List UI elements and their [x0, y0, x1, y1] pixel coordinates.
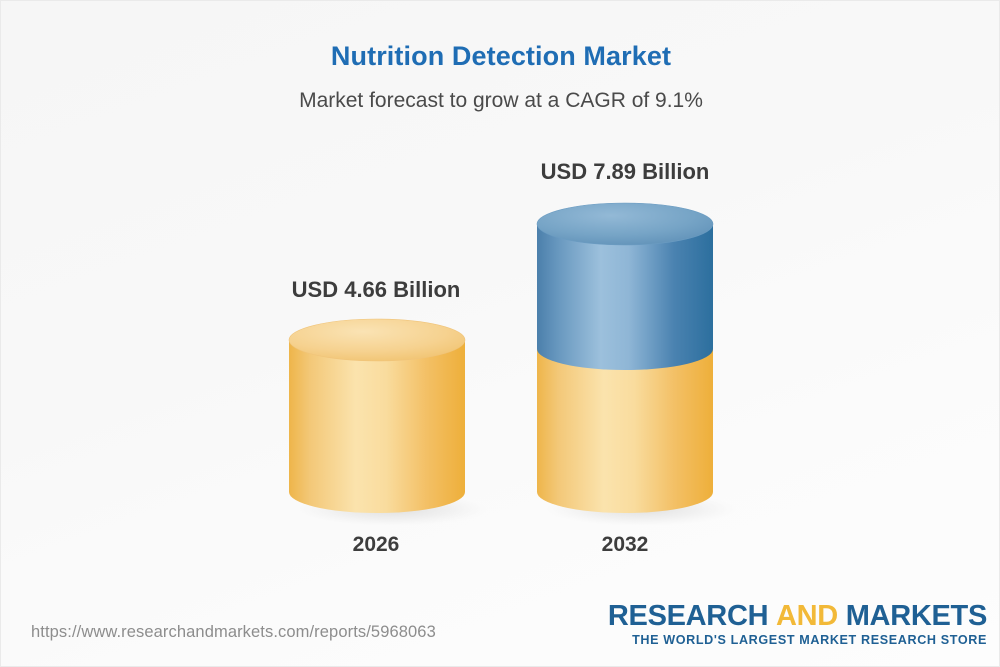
- cylinder-segment-growth-2032: [537, 224, 713, 370]
- plot-area: USD 4.66 Billion: [1, 1, 1000, 601]
- value-label-2032: USD 7.89 Billion: [525, 159, 725, 185]
- cylinder-body-2026: [289, 340, 465, 513]
- source-url[interactable]: https://www.researchandmarkets.com/repor…: [31, 623, 436, 642]
- value-label-2026: USD 4.66 Billion: [276, 277, 476, 303]
- category-label-2032: 2032: [535, 533, 715, 557]
- category-label-2026: 2026: [286, 533, 466, 557]
- cylinder-2026[interactable]: [288, 319, 466, 519]
- logo-word-research: RESEARCH: [608, 600, 768, 632]
- chart-canvas: Nutrition Detection Market Market foreca…: [0, 0, 1000, 667]
- cylinder-top-2026: [289, 319, 465, 361]
- logo-word-and: AND: [776, 600, 838, 632]
- logo-word-markets: MARKETS: [846, 600, 987, 632]
- cylinder-2032[interactable]: [536, 201, 715, 521]
- logo-tagline: THE WORLD'S LARGEST MARKET RESEARCH STOR…: [608, 633, 987, 647]
- cylinder-segment-base-2032: [537, 349, 713, 513]
- research-and-markets-logo[interactable]: RESEARCH AND MARKETS THE WORLD'S LARGEST…: [608, 601, 987, 647]
- cylinder-top-2032: [537, 203, 713, 245]
- logo-wordmark: RESEARCH AND MARKETS: [608, 601, 987, 631]
